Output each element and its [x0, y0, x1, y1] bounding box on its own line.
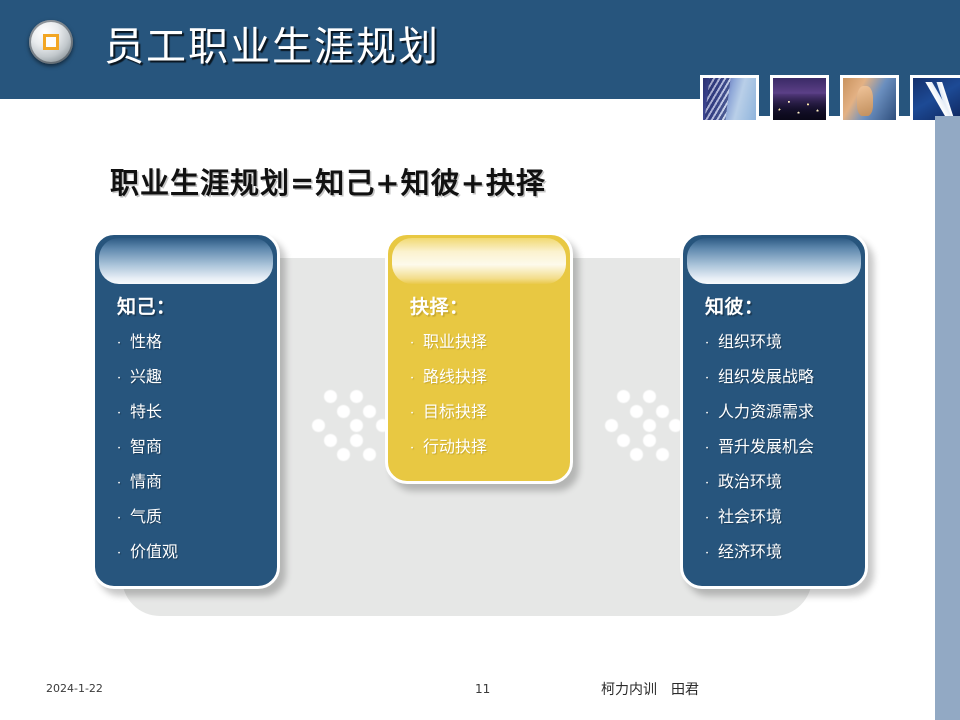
list-item-label: 政治环境: [718, 472, 782, 491]
decorative-dot-icon: [363, 448, 376, 461]
decorative-dot-icon: [350, 434, 363, 447]
decorative-dot-icon: [656, 448, 669, 461]
list-item: ·晋升发展机会: [705, 430, 865, 465]
card-know-yourself[interactable]: 知己： ·性格·兴趣·特长·智商·情商·气质·价值观: [92, 232, 280, 589]
list-item-label: 路线抉择: [423, 367, 487, 386]
bullet-icon: ·: [705, 537, 718, 570]
circular-metallic-square-logo-icon: [29, 20, 73, 64]
list-item-label: 组织环境: [718, 332, 782, 351]
header-divider-rule: [0, 99, 700, 101]
bullet-icon: ·: [410, 362, 423, 395]
decorative-dot-icon: [630, 405, 643, 418]
decorative-dot-icon: [643, 434, 656, 447]
list-item: ·职业抉择: [410, 325, 570, 360]
list-item: ·气质: [117, 500, 277, 535]
decorative-dot-icon: [605, 419, 618, 432]
card-title: 知彼：: [705, 292, 865, 319]
list-item-label: 目标抉择: [423, 402, 487, 421]
list-item-label: 智商: [130, 437, 162, 456]
card-item-list: ·职业抉择·路线抉择·目标抉择·行动抉择: [388, 325, 570, 481]
card-know-others[interactable]: 知彼： ·组织环境·组织发展战略·人力资源需求·晋升发展机会·政治环境·社会环境…: [680, 232, 868, 589]
list-item: ·特长: [117, 395, 277, 430]
bullet-icon: ·: [705, 362, 718, 395]
decorative-dot-icon: [350, 390, 363, 403]
decorative-dot-icon: [643, 390, 656, 403]
card-title: 抉择：: [410, 292, 570, 319]
bullet-icon: ·: [410, 432, 423, 465]
decorative-dot-icon: [656, 405, 669, 418]
glass-office-building-photo: [700, 75, 759, 123]
slide-headline: 职业生涯规划=知己+知彼+抉择: [110, 160, 546, 202]
list-item-label: 经济环境: [718, 542, 782, 561]
bullet-icon: ·: [705, 327, 718, 360]
decorative-dot-icon: [312, 419, 325, 432]
bullet-icon: ·: [705, 397, 718, 430]
list-item-label: 气质: [130, 507, 162, 526]
decorative-dot-icon: [350, 419, 363, 432]
bullet-icon: ·: [705, 502, 718, 535]
decorative-dot-icon: [617, 390, 630, 403]
decorative-dot-icon: [617, 434, 630, 447]
header-thumbnail-strip: [700, 75, 960, 123]
list-item: ·路线抉择: [410, 360, 570, 395]
night-cityscape-photo: [770, 75, 829, 123]
bullet-icon: ·: [117, 432, 130, 465]
bullet-icon: ·: [117, 502, 130, 535]
bullet-icon: ·: [117, 327, 130, 360]
list-item: ·目标抉择: [410, 395, 570, 430]
card-gloss-header: [392, 238, 566, 284]
decorative-dot-icon: [643, 419, 656, 432]
dot-cluster-left: [312, 388, 386, 454]
decorative-dot-icon: [337, 405, 350, 418]
footer-page-number: 11: [475, 682, 490, 696]
decorative-dot-icon: [337, 448, 350, 461]
bullet-icon: ·: [117, 397, 130, 430]
list-item: ·组织环境: [705, 325, 865, 360]
bullet-icon: ·: [705, 467, 718, 500]
bullet-icon: ·: [117, 537, 130, 570]
list-item: ·社会环境: [705, 500, 865, 535]
list-item: ·经济环境: [705, 535, 865, 570]
page-title: 员工职业生涯规划: [104, 14, 440, 72]
decorative-dot-icon: [630, 448, 643, 461]
list-item-label: 行动抉择: [423, 437, 487, 456]
list-item: ·智商: [117, 430, 277, 465]
slide-canvas: 员工职业生涯规划 职业生涯规划=知己+知彼+抉择 知己： ·性格·兴趣·特长·智…: [0, 0, 960, 720]
list-item: ·组织发展战略: [705, 360, 865, 395]
dot-cluster-right: [605, 388, 679, 454]
list-item-label: 组织发展战略: [718, 367, 814, 386]
list-item-label: 情商: [130, 472, 162, 491]
bullet-icon: ·: [410, 397, 423, 430]
list-item-label: 性格: [130, 332, 162, 351]
bullet-icon: ·: [705, 432, 718, 465]
list-item-label: 人力资源需求: [718, 402, 814, 421]
card-gloss-header: [99, 238, 273, 284]
list-item: ·行动抉择: [410, 430, 570, 465]
card-item-list: ·性格·兴趣·特长·智商·情商·气质·价值观: [95, 325, 277, 586]
logo-inner-square-icon: [43, 34, 59, 50]
bullet-icon: ·: [117, 467, 130, 500]
decorative-dot-icon: [324, 434, 337, 447]
decorative-dot-icon: [324, 390, 337, 403]
list-item-label: 职业抉择: [423, 332, 487, 351]
list-item: ·情商: [117, 465, 277, 500]
list-item-label: 兴趣: [130, 367, 162, 386]
list-item: ·性格: [117, 325, 277, 360]
list-item: ·人力资源需求: [705, 395, 865, 430]
list-item-label: 晋升发展机会: [718, 437, 814, 456]
list-item: ·兴趣: [117, 360, 277, 395]
decorative-dot-icon: [363, 405, 376, 418]
footer-date: 2024-1-22: [46, 682, 103, 695]
list-item: ·政治环境: [705, 465, 865, 500]
list-item-label: 社会环境: [718, 507, 782, 526]
list-item: ·价值观: [117, 535, 277, 570]
right-edge-accent-bar: [935, 116, 960, 720]
footer-author: 柯力内训 田君: [601, 679, 699, 699]
bullet-icon: ·: [410, 327, 423, 360]
card-title: 知己：: [117, 292, 277, 319]
list-item-label: 特长: [130, 402, 162, 421]
card-item-list: ·组织环境·组织发展战略·人力资源需求·晋升发展机会·政治环境·社会环境·经济环…: [683, 325, 865, 586]
list-item-label: 价值观: [130, 542, 178, 561]
card-decision[interactable]: 抉择： ·职业抉择·路线抉择·目标抉择·行动抉择: [385, 232, 573, 484]
card-gloss-header: [687, 238, 861, 284]
bullet-icon: ·: [117, 362, 130, 395]
person-on-phone-photo: [840, 75, 899, 123]
header-band-lower: [0, 78, 700, 100]
